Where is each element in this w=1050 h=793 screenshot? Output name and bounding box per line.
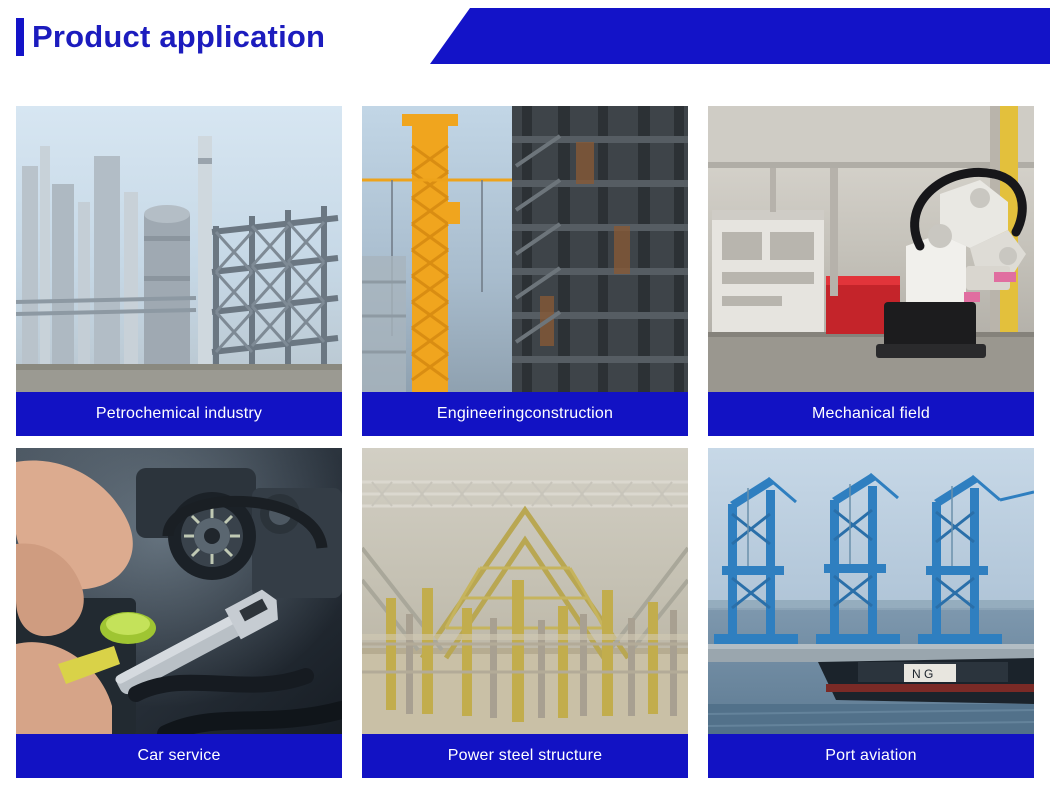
header-banner-shape [430,8,1050,64]
card-caption: Car service [16,734,342,778]
header-accent-bar [16,18,24,56]
page-header: Product application [0,0,1050,72]
card-caption: Port aviation [708,734,1034,778]
petrochemical-plant-photo [16,106,342,392]
card-caption: Mechanical field [708,392,1034,436]
industrial-robot-arm-photo [708,106,1034,392]
application-card-car-service[interactable]: Car service [16,448,342,778]
power-steel-structure-photo [362,448,688,736]
application-card-petrochemical[interactable]: Petrochemical industry [16,106,342,436]
car-engine-repair-photo [16,448,342,736]
card-caption: Engineeringconstruction [362,392,688,436]
card-caption: Petrochemical industry [16,392,342,436]
construction-crane-photo [362,106,688,392]
svg-text:N G: N G [912,667,933,681]
product-application-grid: Petrochemical industry [16,106,1034,778]
application-card-engineering[interactable]: Engineeringconstruction [362,106,688,436]
application-card-port-aviation[interactable]: N G Port aviation [708,448,1034,778]
card-caption: Power steel structure [362,734,688,778]
page-title: Product application [32,16,325,58]
application-card-mechanical[interactable]: Mechanical field [708,106,1034,436]
application-card-power-steel[interactable]: Power steel structure [362,448,688,778]
port-crane-photo: N G [708,448,1034,736]
